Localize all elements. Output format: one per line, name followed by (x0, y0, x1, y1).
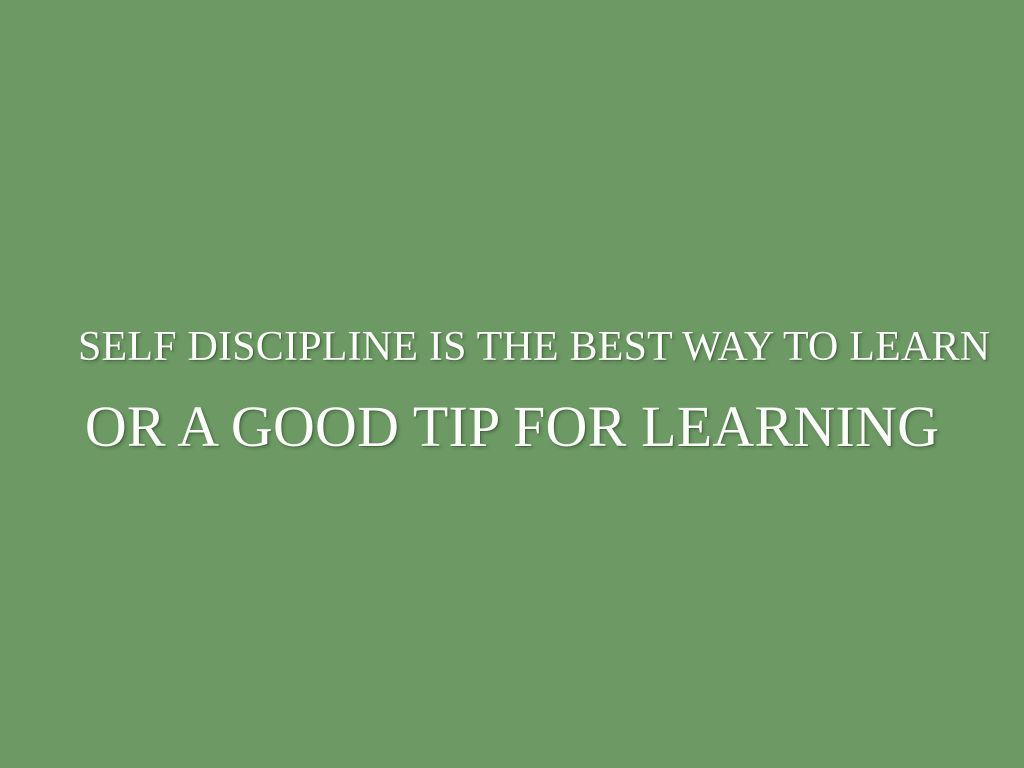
quote-line-primary: SELF DISCIPLINE IS THE BEST WAY TO LEARN (78, 318, 946, 376)
quote-line-secondary: OR A GOOD TIP FOR LEARNING (78, 392, 946, 462)
quote-text-block: SELF DISCIPLINE IS THE BEST WAY TO LEARN… (0, 318, 1024, 462)
slide-canvas: SELF DISCIPLINE IS THE BEST WAY TO LEARN… (0, 0, 1024, 768)
